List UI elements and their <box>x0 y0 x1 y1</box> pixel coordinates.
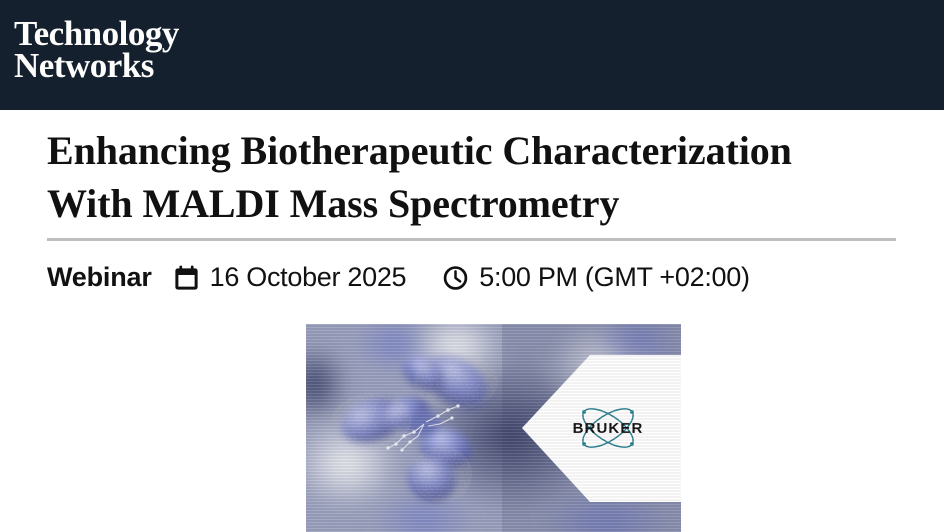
event-time-group: 5:00 PM (GMT +02:00) <box>443 262 749 293</box>
brand-logo-line-2: Networks <box>14 50 179 82</box>
page-title-line-1: Enhancing Biotherapeutic Characterizatio… <box>47 128 792 173</box>
content-type-label: Webinar <box>47 262 152 293</box>
site-header: Technology Networks <box>0 0 944 110</box>
event-meta-row: Webinar 16 October 2025 5:00 PM (GMT +02… <box>47 262 897 293</box>
clock-icon <box>443 265 468 291</box>
page-title: Enhancing Biotherapeutic Characterizatio… <box>47 110 897 230</box>
calendar-icon <box>174 265 199 291</box>
event-time: 5:00 PM (GMT +02:00) <box>479 262 749 293</box>
event-date: 16 October 2025 <box>210 262 407 293</box>
main-content: Enhancing Biotherapeutic Characterizatio… <box>0 110 944 293</box>
bruker-wordmark: BRUKER <box>573 420 644 437</box>
hero-illustration: BRUKER <box>306 324 681 532</box>
brand-logo[interactable]: Technology Networks <box>14 18 179 82</box>
page-title-line-2: With MALDI Mass Spectrometry <box>47 181 619 226</box>
event-date-group: 16 October 2025 <box>174 262 407 293</box>
hero-image[interactable]: BRUKER <box>306 324 681 532</box>
title-divider <box>47 238 896 241</box>
